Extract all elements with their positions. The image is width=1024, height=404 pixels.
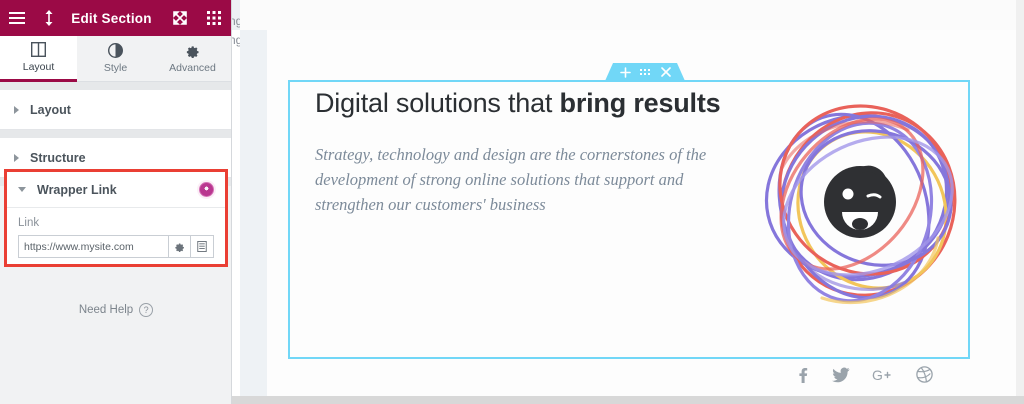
section-toolbar[interactable] bbox=[605, 63, 685, 81]
wrapper-link-title: Wrapper Link bbox=[37, 183, 117, 197]
scribble-circles-smiley-illustration bbox=[742, 78, 982, 328]
page-title: Digital solutions that bring results bbox=[315, 88, 720, 119]
dynamic-tags-button[interactable] bbox=[191, 235, 214, 258]
hero-paragraph: Strategy, technology and design are the … bbox=[315, 142, 720, 217]
google-plus-icon[interactable]: G bbox=[872, 367, 894, 383]
gear-icon bbox=[185, 43, 200, 58]
panel-title: Edit Section bbox=[64, 11, 163, 26]
svg-text:G: G bbox=[872, 367, 883, 383]
section-layout[interactable]: Layout bbox=[0, 90, 231, 130]
need-help-label: Need Help bbox=[79, 304, 133, 316]
accordion-gap bbox=[0, 130, 231, 138]
link-input[interactable] bbox=[18, 235, 168, 258]
twitter-icon[interactable] bbox=[832, 367, 850, 383]
editor-left-gutter bbox=[240, 30, 267, 396]
panel-header: Edit Section bbox=[0, 0, 231, 36]
wrapper-link-highlight: Wrapper Link Link bbox=[4, 169, 228, 267]
close-x-icon[interactable] bbox=[661, 67, 671, 77]
panel-tabs: Layout Style Advanced bbox=[0, 36, 231, 82]
pro-feature-badge-icon bbox=[199, 182, 214, 197]
plus-icon[interactable] bbox=[620, 67, 631, 78]
need-help-link[interactable]: Need Help ? bbox=[0, 303, 232, 317]
contrast-half-circle-icon bbox=[108, 43, 123, 58]
chevron-right-icon bbox=[14, 106, 19, 114]
heading-bold-part: bring results bbox=[560, 88, 721, 118]
columns-layout-icon bbox=[31, 42, 46, 57]
link-field-group bbox=[18, 235, 214, 258]
editor-panel: Edit Section Layout Style bbox=[0, 0, 232, 404]
link-options-button[interactable] bbox=[168, 235, 191, 258]
tab-advanced-label: Advanced bbox=[169, 62, 216, 74]
section-wrapper-link[interactable]: Wrapper Link bbox=[7, 172, 225, 208]
vertical-resize-arrows-icon[interactable] bbox=[34, 0, 64, 36]
tab-layout-label: Layout bbox=[23, 61, 55, 73]
tab-advanced[interactable]: Advanced bbox=[154, 36, 231, 82]
expand-arrows-icon[interactable] bbox=[163, 0, 197, 36]
drag-handle-dots-icon[interactable] bbox=[640, 68, 652, 77]
canvas-scrollbar[interactable] bbox=[1016, 0, 1024, 396]
accordion-gap bbox=[0, 82, 231, 90]
grid-apps-icon[interactable] bbox=[197, 0, 231, 36]
link-field-label: Link bbox=[18, 217, 214, 229]
dribbble-icon[interactable] bbox=[916, 366, 933, 383]
tab-style[interactable]: Style bbox=[77, 36, 154, 82]
facebook-icon[interactable] bbox=[795, 367, 810, 383]
question-mark-circle-icon[interactable]: ? bbox=[139, 303, 153, 317]
chevron-right-icon bbox=[14, 154, 19, 162]
social-icons-row: G bbox=[795, 366, 933, 383]
section-layout-label: Layout bbox=[30, 103, 71, 117]
heading-regular-part: Digital solutions that bbox=[315, 88, 560, 118]
chevron-down-icon bbox=[18, 187, 26, 192]
tab-layout[interactable]: Layout bbox=[0, 36, 77, 82]
hamburger-menu-icon[interactable] bbox=[0, 0, 34, 36]
section-structure-label: Structure bbox=[30, 151, 86, 165]
wrapper-link-body: Link bbox=[7, 208, 225, 258]
editor-screen: ng c ng c Digital solutions that bring r… bbox=[0, 0, 1024, 404]
tab-style-label: Style bbox=[104, 62, 127, 74]
